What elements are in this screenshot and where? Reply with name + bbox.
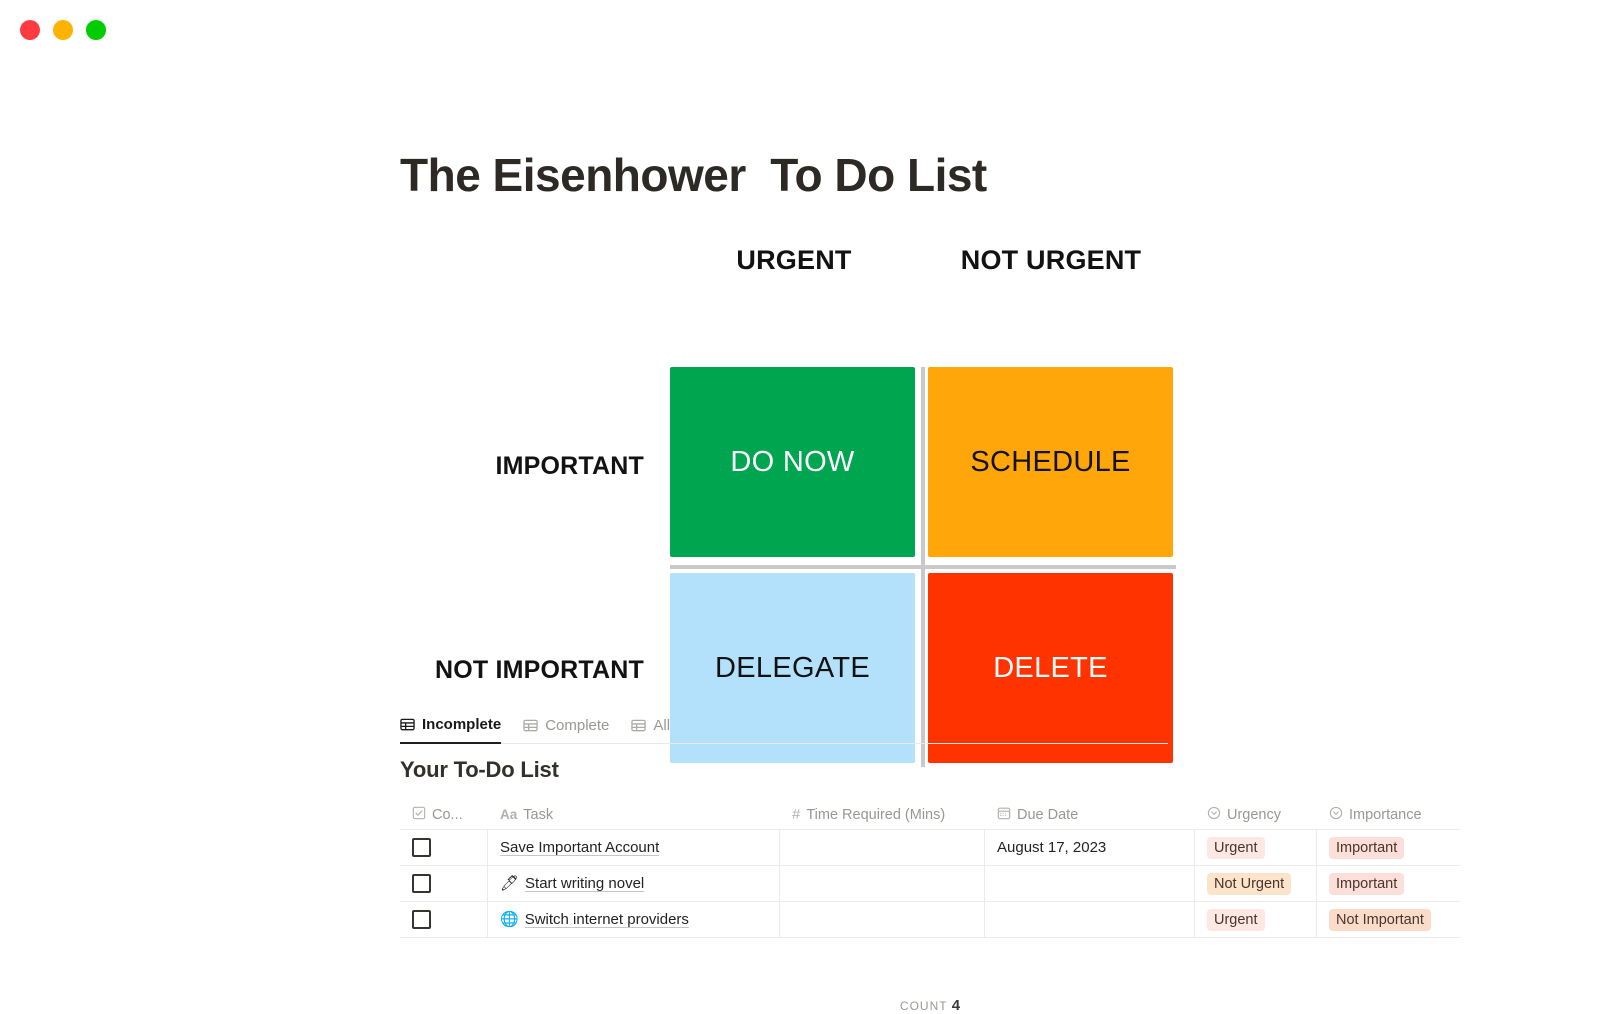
table-view-icon (523, 718, 538, 733)
table-row: Save Important Account August 17, 2023 U… (400, 830, 1460, 866)
task-title[interactable]: Start writing novel (525, 875, 644, 892)
column-header-time-required[interactable]: # Time Required (Mins) (780, 800, 985, 830)
pen-icon: 🖊 (500, 876, 519, 891)
column-header-time-required-label: Time Required (Mins) (806, 807, 945, 823)
select-circle-icon (1207, 806, 1221, 824)
task-title[interactable]: Switch internet providers (525, 911, 689, 928)
quadrant-do-now[interactable]: DO NOW (670, 367, 915, 557)
column-header-urgency-label: Urgency (1227, 807, 1281, 823)
zoom-window-button[interactable] (86, 20, 106, 40)
row-urgency-cell[interactable]: Urgent (1195, 902, 1317, 938)
row-importance-cell[interactable]: Important (1317, 830, 1460, 866)
table-row: 🌐 Switch internet providers Urgent Not I… (400, 902, 1460, 938)
column-header-task[interactable]: Aa Task (488, 800, 780, 830)
row-complete-cell[interactable] (400, 902, 488, 938)
close-window-button[interactable] (20, 20, 40, 40)
minimize-window-button[interactable] (53, 20, 73, 40)
status-badge-urgency: Urgent (1207, 909, 1265, 931)
globe-icon: 🌐 (500, 912, 519, 927)
row-time-required-cell[interactable] (780, 830, 985, 866)
row-task-cell[interactable]: 🌐 Switch internet providers (488, 902, 780, 938)
matrix-grid: DO NOW SCHEDULE DELEGATE DELETE (670, 367, 1176, 767)
view-tabs: Incomplete Complete All (400, 710, 1168, 744)
table-row: 🖊 Start writing novel Not Urgent Importa… (400, 866, 1460, 902)
row-checkbox[interactable] (412, 910, 431, 929)
table-view-icon (400, 717, 415, 732)
matrix-column-header-urgent: URGENT (670, 245, 918, 276)
row-task-cell[interactable]: 🖊 Start writing novel (488, 866, 780, 902)
row-importance-cell[interactable]: Important (1317, 866, 1460, 902)
row-importance-cell[interactable]: Not Important (1317, 902, 1460, 938)
column-header-task-label: Task (523, 807, 553, 823)
tab-complete[interactable]: Complete (523, 710, 609, 744)
table-header-row: Co... Aa Task # Time Required (Mins) (400, 800, 1460, 830)
number-hash-icon: # (792, 806, 800, 823)
list-heading: Your To-Do List (400, 757, 559, 783)
calendar-icon (997, 806, 1011, 824)
column-header-complete[interactable]: Co... (400, 800, 488, 830)
column-header-complete-label: Co... (432, 807, 463, 823)
row-time-required-cell[interactable] (780, 866, 985, 902)
page-title: The Eisenhower To Do List (400, 148, 987, 202)
tab-all-label: All (653, 717, 670, 734)
status-badge-urgency: Urgent (1207, 837, 1265, 859)
status-badge-importance: Not Important (1329, 909, 1431, 931)
row-urgency-cell[interactable]: Not Urgent (1195, 866, 1317, 902)
row-complete-cell[interactable] (400, 866, 488, 902)
todo-table: Co... Aa Task # Time Required (Mins) (400, 800, 1460, 938)
column-header-due-date[interactable]: Due Date (985, 800, 1195, 830)
row-urgency-cell[interactable]: Urgent (1195, 830, 1317, 866)
row-complete-cell[interactable] (400, 830, 488, 866)
table-view-icon (631, 718, 646, 733)
task-title[interactable]: Save Important Account (500, 839, 659, 856)
window-titlebar (0, 0, 1600, 60)
row-due-date-cell[interactable] (985, 866, 1195, 902)
tab-incomplete-label: Incomplete (422, 716, 501, 733)
row-checkbox[interactable] (412, 874, 431, 893)
column-header-importance[interactable]: Importance (1317, 800, 1460, 830)
tab-all[interactable]: All (631, 710, 670, 744)
text-aa-icon: Aa (500, 807, 517, 822)
tab-complete-label: Complete (545, 717, 609, 734)
row-task-cell[interactable]: Save Important Account (488, 830, 780, 866)
row-checkbox[interactable] (412, 838, 431, 857)
matrix-row-header-not-important: NOT IMPORTANT (396, 656, 644, 685)
column-header-importance-label: Importance (1349, 807, 1422, 823)
quadrant-schedule[interactable]: SCHEDULE (928, 367, 1173, 557)
matrix-row-header-important: IMPORTANT (396, 452, 644, 481)
select-circle-icon (1329, 806, 1343, 824)
row-due-date-cell[interactable]: August 17, 2023 (985, 830, 1195, 866)
row-time-required-cell[interactable] (780, 902, 985, 938)
status-badge-importance: Important (1329, 873, 1404, 895)
status-badge-urgency: Not Urgent (1207, 873, 1291, 895)
status-badge-importance: Important (1329, 837, 1404, 859)
checkbox-icon (412, 806, 426, 824)
matrix-column-header-not-urgent: NOT URGENT (926, 245, 1176, 276)
matrix-horizontal-divider (670, 565, 1176, 569)
row-due-date-cell[interactable] (985, 902, 1195, 938)
tab-incomplete[interactable]: Incomplete (400, 710, 501, 744)
column-header-urgency[interactable]: Urgency (1195, 800, 1317, 830)
count-label: COUNT (900, 999, 947, 1013)
page-body: The Eisenhower To Do List URGENT NOT URG… (0, 60, 1600, 1000)
column-header-due-date-label: Due Date (1017, 807, 1078, 823)
